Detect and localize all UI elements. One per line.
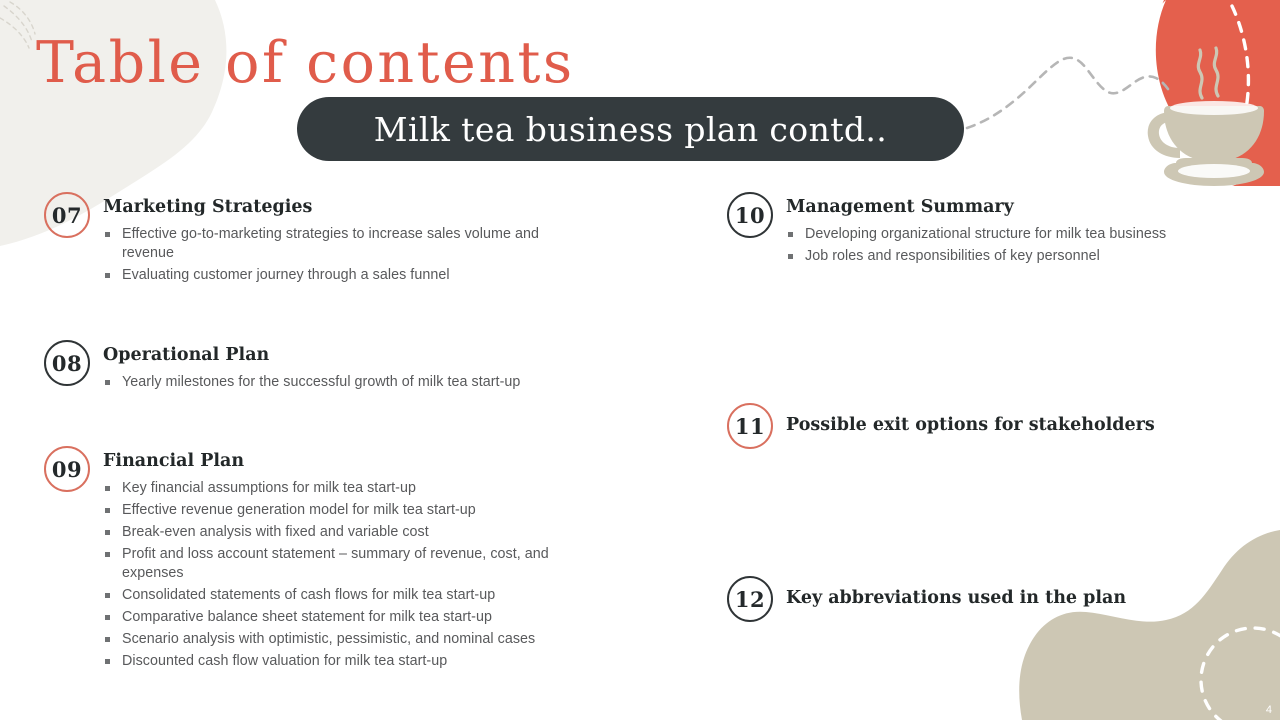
page-title: Table of contents [36,30,575,96]
toc-entry-body-11: Possible exit options for stakeholders [786,403,1155,437]
toc-bullets-08: Yearly milestones for the successful gro… [103,373,520,393]
toc-entry-09[interactable]: 09 Financial Plan Key financial assumpti… [44,446,601,674]
toc-number-07: 07 [44,192,90,238]
toc-entry-10[interactable]: 10 Management Summary Developing organiz… [727,192,1166,269]
toc-title-10: Management Summary [786,197,1166,219]
toc-bullets-07: Effective go-to-marketing strategies to … [103,225,555,286]
toc-entry-07[interactable]: 07 Marketing Strategies Effective go-to-… [44,192,555,288]
toc-bullet-item: Evaluating customer journey through a sa… [103,266,555,286]
toc-bullet-item: Consolidated statements of cash flows fo… [103,586,601,606]
subtitle-text: Milk tea business plan contd.. [374,110,887,149]
toc-number-08: 08 [44,340,90,386]
toc-bullet-item: Comparative balance sheet statement for … [103,608,601,628]
subtitle-banner: Milk tea business plan contd.. [297,97,964,161]
toc-title-12: Key abbreviations used in the plan [786,581,1126,610]
toc-entry-body-07: Marketing Strategies Effective go-to-mar… [103,192,555,288]
toc-bullet-item: Effective go-to-marketing strategies to … [103,225,555,264]
toc-bullet-item: Discounted cash flow valuation for milk … [103,652,601,672]
toc-title-08: Operational Plan [103,345,520,367]
toc-number-09: 09 [44,446,90,492]
toc-bullet-item: Developing organizational structure for … [786,225,1166,245]
page-number: 4 [1266,704,1272,716]
toc-bullet-item: Key financial assumptions for milk tea s… [103,479,601,499]
toc-bullet-item: Yearly milestones for the successful gro… [103,373,520,393]
toc-title-09: Financial Plan [103,451,601,473]
toc-entry-12[interactable]: 12 Key abbreviations used in the plan [727,576,1126,622]
toc-title-11: Possible exit options for stakeholders [786,408,1155,437]
toc-entry-11[interactable]: 11 Possible exit options for stakeholder… [727,403,1155,449]
toc-entry-body-09: Financial Plan Key financial assumptions… [103,446,601,674]
toc-bullet-item: Effective revenue generation model for m… [103,501,601,521]
toc-bullet-item: Scenario analysis with optimistic, pessi… [103,630,601,650]
toc-bullets-09: Key financial assumptions for milk tea s… [103,479,601,672]
toc-number-11: 11 [727,403,773,449]
toc-entry-body-12: Key abbreviations used in the plan [786,576,1126,610]
toc-entry-body-10: Management Summary Developing organizati… [786,192,1166,269]
toc-bullet-item: Break-even analysis with fixed and varia… [103,523,601,543]
toc-bullets-10: Developing organizational structure for … [786,225,1166,267]
toc-entry-08[interactable]: 08 Operational Plan Yearly milestones fo… [44,340,520,395]
toc-number-10: 10 [727,192,773,238]
toc-entry-body-08: Operational Plan Yearly milestones for t… [103,340,520,395]
toc-bullet-item: Profit and loss account statement – summ… [103,545,601,584]
toc-title-07: Marketing Strategies [103,197,555,219]
toc-bullet-item: Job roles and responsibilities of key pe… [786,247,1166,267]
toc-number-12: 12 [727,576,773,622]
